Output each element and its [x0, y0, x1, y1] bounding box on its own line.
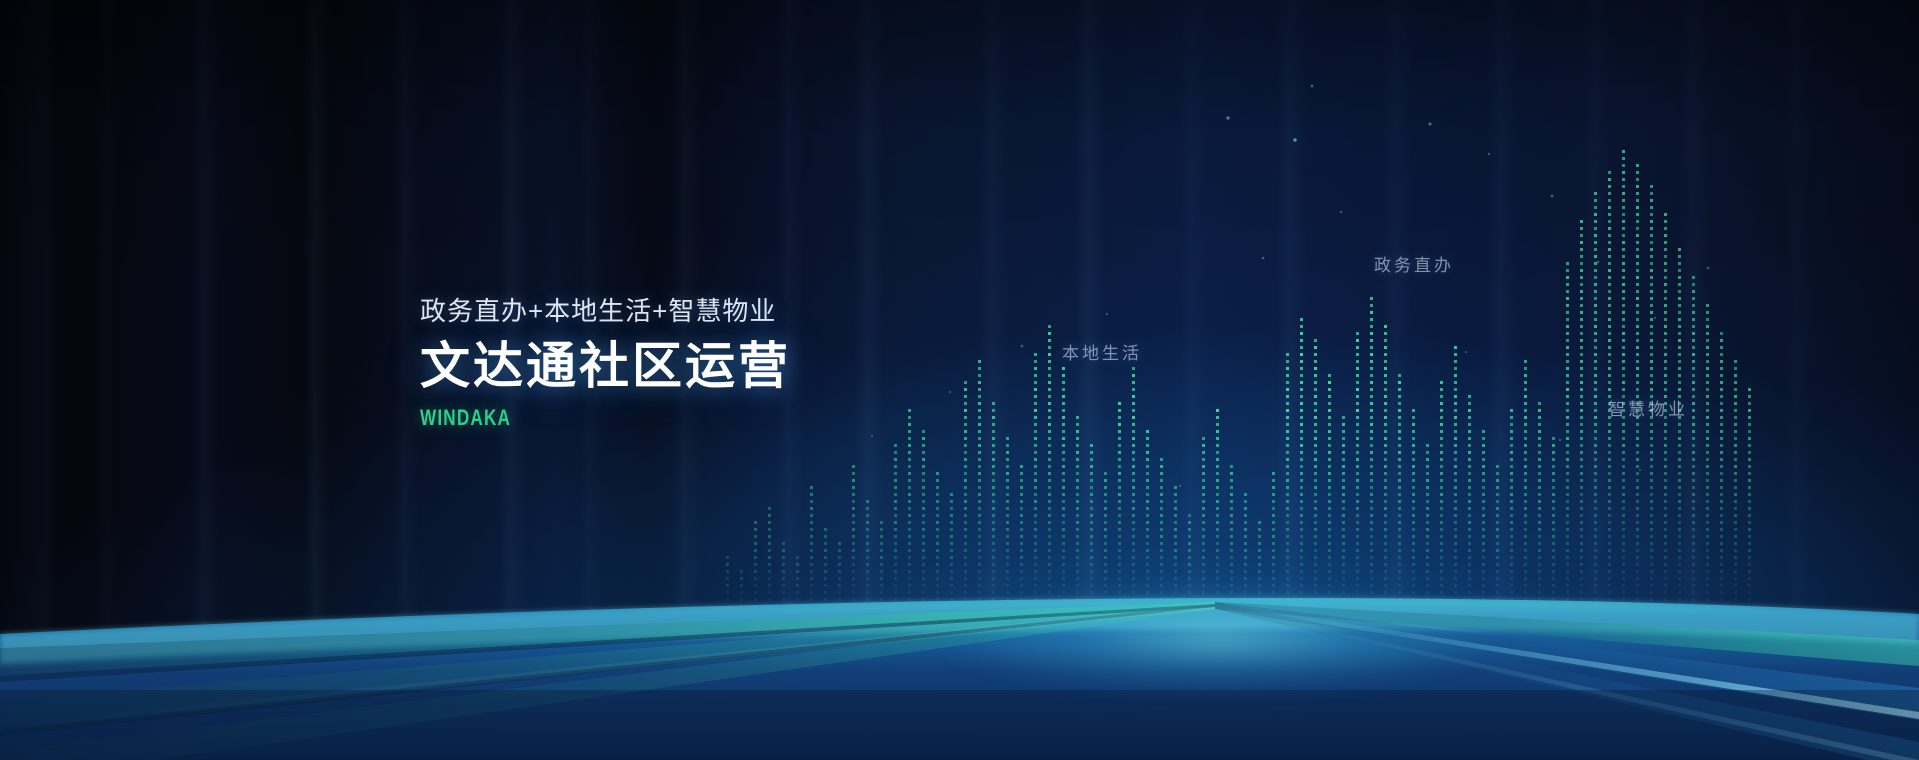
- perspective-ground: [0, 0, 1919, 760]
- floating-label-bendi: 本地生活: [1062, 339, 1142, 364]
- hero-subtitle: 政务直办+本地生活+智慧物业: [420, 296, 791, 327]
- floating-label-zhihui: 智慧物业: [1608, 395, 1688, 420]
- hero-copy-block: 政务直办+本地生活+智慧物业 文达通社区运营 WINDAKA: [420, 296, 791, 431]
- hero-title: 文达通社区运营: [420, 337, 791, 396]
- brand-wordmark: WINDAKA: [420, 405, 709, 431]
- floating-label-zhengwu: 政务直办: [1374, 251, 1454, 276]
- hero-banner: 政务直办 本地生活 智慧物业 政务直办+本地生活+智慧物业 文达通社区运营 WI…: [0, 0, 1919, 760]
